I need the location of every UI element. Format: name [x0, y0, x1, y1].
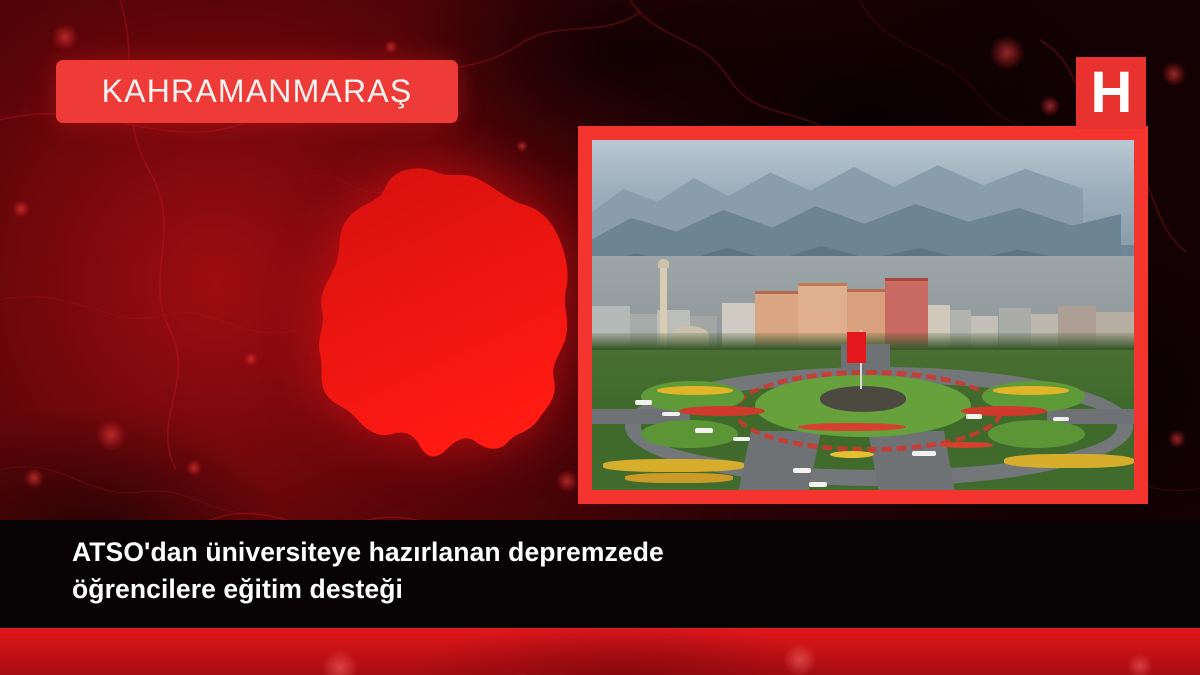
- photo-flowerbed: [939, 442, 993, 448]
- photo-center-island: [820, 386, 907, 411]
- headline-line-2: öğrencilere eğitim desteği: [72, 574, 403, 604]
- photo-car: [662, 412, 679, 416]
- photo-flowerbed: [1004, 454, 1134, 468]
- photo-car: [809, 482, 827, 488]
- photo-car: [912, 451, 936, 457]
- headline-line-1: ATSO'dan üniversiteye hazırlanan depremz…: [72, 537, 664, 567]
- photo-petal-lawn: [641, 420, 739, 448]
- photo-petal-lawn: [988, 420, 1086, 448]
- photo-flowerbed: [830, 451, 873, 458]
- brand-logo[interactable]: H: [1076, 57, 1146, 129]
- photo-car: [733, 437, 750, 441]
- photo-flowerbed: [679, 406, 766, 416]
- photo-car: [793, 468, 811, 474]
- photo-flowerbed: [657, 386, 733, 394]
- photo-car: [1053, 417, 1069, 421]
- photo-car: [635, 400, 651, 404]
- headline-bar: ATSO'dan üniversiteye hazırlanan depremz…: [0, 520, 1200, 628]
- bottom-red-band: [0, 628, 1200, 675]
- photo-car: [695, 428, 713, 433]
- city-badge[interactable]: KAHRAMANMARAŞ: [56, 60, 458, 123]
- photo-turkish-flag: [847, 332, 866, 363]
- photo-frame: [578, 126, 1148, 504]
- photo-car: [966, 414, 982, 418]
- photo-flowerbed: [993, 386, 1069, 394]
- city-badge-label: KAHRAMANMARAŞ: [102, 73, 413, 110]
- headline: ATSO'dan üniversiteye hazırlanan depremz…: [72, 534, 772, 608]
- city-photo: [592, 140, 1134, 490]
- photo-flowerbed: [625, 473, 733, 483]
- province-highlight-shape: [270, 140, 600, 510]
- photo-ground: [592, 350, 1134, 490]
- photo-minaret-cap: [658, 259, 669, 268]
- news-card: KAHRAMANMARAŞ H: [0, 0, 1200, 675]
- photo-flowerbed: [603, 459, 744, 472]
- brand-logo-letter: H: [1091, 64, 1132, 122]
